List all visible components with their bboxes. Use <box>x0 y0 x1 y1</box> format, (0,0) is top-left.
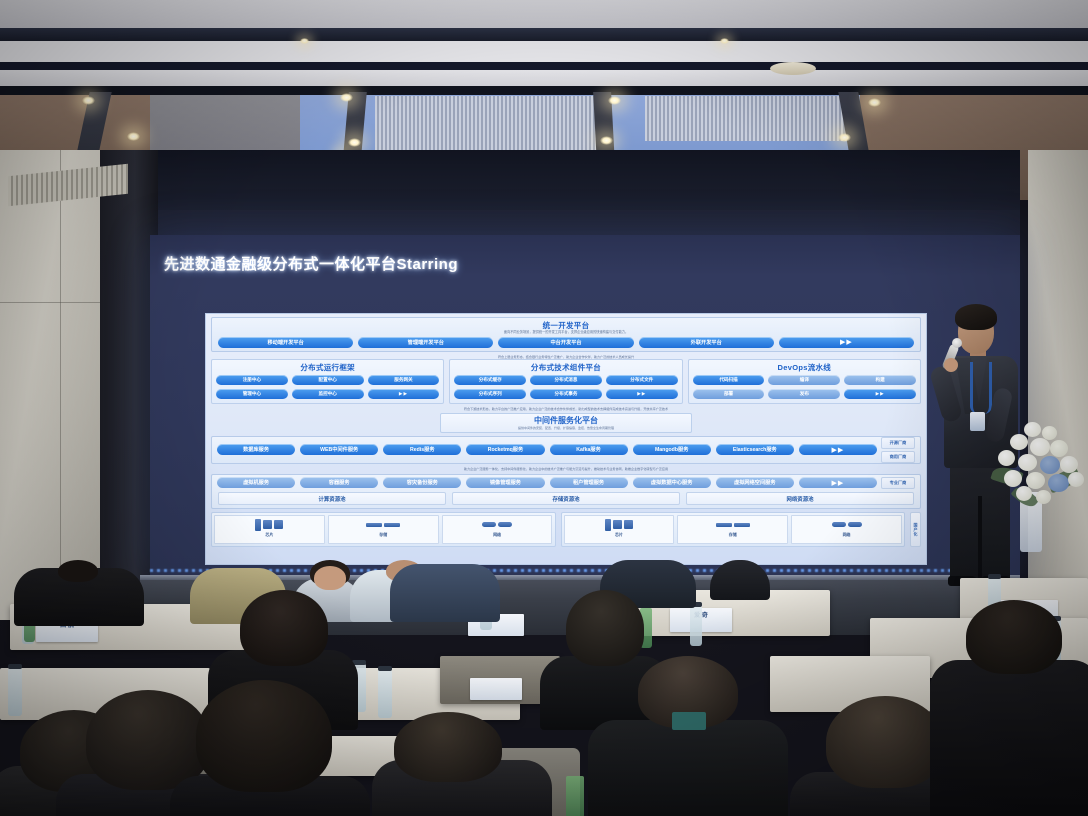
audience-member <box>170 680 370 816</box>
column-title: DevOps流水线 <box>689 360 920 373</box>
chip-distributed-message[interactable]: 分布式消息 <box>530 375 602 385</box>
audience-member <box>372 712 552 816</box>
ceiling-spotlight <box>608 96 621 105</box>
flower-blue <box>1048 474 1069 492</box>
slide-content: 统一开发平台 面向不同业务场景，提供统一的开发工具平台，支撑企业级应用的快速构建… <box>205 313 927 565</box>
chip-distributed-file[interactable]: 分布式文件 <box>606 375 678 385</box>
chip-monitor-center[interactable]: 监控中心 <box>292 389 364 399</box>
speaker-badge <box>970 412 985 431</box>
middleware-title-box: 中间件服务化平台 提供中间件的安装、配置、升级、扩容缩容、监控、告警全生命周期管… <box>440 413 692 433</box>
ceiling-spotlight <box>868 98 881 107</box>
ceiling-slab-top <box>0 0 1088 30</box>
side-tag-localization[interactable]: 国产化 <box>910 512 921 547</box>
flower-white <box>1010 434 1028 450</box>
chip-elasticsearch-service[interactable]: Elasticsearch服务 <box>716 444 794 455</box>
audience-area: 国 航 爱 奇 <box>0 560 1088 816</box>
chip-midplatform-dev[interactable]: 中台开发平台 <box>498 337 633 348</box>
audience-lanyard <box>672 712 706 730</box>
hardware-cell-storage[interactable]: 存储 <box>677 515 788 544</box>
hardware-cell-chip[interactable]: 芯片 <box>564 515 675 544</box>
water-bottle <box>378 670 392 718</box>
chip-distributed-cache[interactable]: 分布式缓存 <box>454 375 526 385</box>
side-tag-label: 国产化 <box>913 523 919 537</box>
chip-distributed-transaction[interactable]: 分布式事务 <box>530 389 602 399</box>
chip-web-middleware-service[interactable]: WEB中间件服务 <box>300 444 378 455</box>
audience-head <box>58 560 98 582</box>
ceiling-spotlight <box>838 133 851 142</box>
chip-deploy[interactable]: 部署 <box>693 389 765 399</box>
layer-footnote-2: 符合下游技术形态，助力平台的广泛推广应用，助力企业广泛的技术合作伙伴成长，助力成… <box>206 407 926 412</box>
flower-white <box>1050 440 1068 457</box>
hardware-group-2: 芯片 存储 网络 <box>561 512 906 547</box>
hardware-label: 芯片 <box>615 532 623 538</box>
hardware-cell-storage[interactable]: 存储 <box>328 515 439 544</box>
column-devops-pipeline: DevOps流水线 代码扫描 编译 构建 部署 发布 ▶▶ <box>688 359 921 404</box>
audience-hair <box>566 590 644 666</box>
conference-hall-photo: 先进数通金融级分布式一体化平台Starring 统一开发平台 面向不同业务场景，… <box>0 0 1088 816</box>
side-tag-opensource-vendor[interactable]: 开源厂商 <box>881 437 915 449</box>
audience-head <box>314 566 346 590</box>
middleware-side-tags: 开源厂商 商用厂商 <box>881 437 915 463</box>
hardware-group-1: 芯片 存储 网络 <box>211 512 556 547</box>
network-icon <box>832 517 862 532</box>
chip-more[interactable]: ▶▶ <box>799 477 877 488</box>
layer-virtualization: 虚拟机服务 容器服务 容灾备份服务 镜像管理服务 租户管理服务 虚拟数据中心服务… <box>211 474 921 509</box>
layer-three-columns: 分布式运行框架 注册中心 配置中心 服务网关 管理中心 监控中心 ▶▶ 分布式技… <box>206 359 926 407</box>
floral-arrangement <box>990 420 1088 550</box>
ceiling-smoke-detector <box>770 62 816 75</box>
chip-row: 部署 发布 ▶▶ <box>689 387 920 401</box>
ceiling-air-vent-2 <box>645 96 860 141</box>
middleware-title: 中间件服务化平台 <box>441 415 691 426</box>
audience-member <box>710 560 770 600</box>
audience-member <box>14 560 144 626</box>
water-bottle <box>8 668 22 716</box>
bottle-cap <box>8 664 22 669</box>
chip-rocketmq-service[interactable]: Rocketmq服务 <box>466 444 544 455</box>
side-tag-professional-vendor[interactable]: 专业厂商 <box>881 477 915 489</box>
chip-kafka-service[interactable]: Kafka服务 <box>550 444 628 455</box>
chip-row: 代码扫描 编译 构建 <box>689 373 920 387</box>
audience-body <box>588 720 788 816</box>
ceiling-spotlight <box>127 132 140 141</box>
microphone-head-icon <box>952 338 962 348</box>
audience-hair <box>394 712 502 782</box>
layer-footnote-3: 助力企业广泛服务一体化，支持中间件服务化，助力企业中的技术广泛推广与能力沉淀与提… <box>206 467 926 472</box>
column-runtime-framework: 分布式运行框架 注册中心 配置中心 服务网关 管理中心 监控中心 ▶▶ <box>211 359 444 404</box>
speaker-lanyard <box>970 362 992 414</box>
audience-body <box>710 560 770 600</box>
hardware-cell-network[interactable]: 网络 <box>442 515 553 544</box>
layer-middleware: 数据库服务 WEB中间件服务 Redis服务 Rocketmq服务 Kafka服… <box>211 436 921 464</box>
hardware-cell-chip[interactable]: 芯片 <box>214 515 325 544</box>
speaker-hair <box>955 304 997 330</box>
chip-code-scan[interactable]: 代码扫描 <box>693 375 765 385</box>
hardware-label: 网络 <box>493 532 501 538</box>
column-title: 分布式技术组件平台 <box>450 360 681 373</box>
ceiling-spotlight <box>600 136 613 145</box>
chip-service-gateway[interactable]: 服务网关 <box>368 375 440 385</box>
chip-mobile-dev[interactable]: 移动端开发平台 <box>218 337 353 348</box>
ceiling-spotlight <box>340 93 353 102</box>
ceiling-spotlight <box>720 38 729 44</box>
bottle-cap <box>988 574 1001 579</box>
wall-seam <box>60 150 61 620</box>
audience-hair <box>826 696 944 788</box>
hardware-label: 存储 <box>379 532 387 538</box>
projection-screen: 先进数通金融级分布式一体化平台Starring 统一开发平台 面向不同业务场景，… <box>150 235 1020 580</box>
flower-white <box>998 450 1015 466</box>
flower-blue <box>1040 456 1060 474</box>
column-tech-components: 分布式技术组件平台 分布式缓存 分布式消息 分布式文件 分布式序列 分布式事务 … <box>449 359 682 404</box>
chip-config-center[interactable]: 配置中心 <box>292 375 364 385</box>
chip-distributed-sequence[interactable]: 分布式序列 <box>454 389 526 399</box>
chip-management-center[interactable]: 管理中心 <box>216 389 288 399</box>
chip-row: 数据库服务 WEB中间件服务 Redis服务 Rocketmq服务 Kafka服… <box>217 442 877 457</box>
flower-white <box>1018 454 1037 471</box>
flower-white <box>1004 470 1022 487</box>
chip-vm-service[interactable]: 虚拟机服务 <box>217 477 295 488</box>
chip-more[interactable]: ▶▶ <box>779 337 914 348</box>
ceiling-recess-strip <box>0 28 1088 42</box>
virtualization-side-tags: 专业厂商 <box>881 477 915 489</box>
middleware-subtitle: 提供中间件的安装、配置、升级、扩容缩容、监控、告警全生命周期管理 <box>441 426 691 430</box>
back-wall-upper-band <box>140 150 1020 210</box>
chip-row: 管理中心 监控中心 ▶▶ <box>212 387 443 401</box>
chip-redis-service[interactable]: Redis服务 <box>383 444 461 455</box>
ceiling-spotlight <box>300 38 309 44</box>
pool-network[interactable]: 网络资源池 <box>686 492 914 505</box>
flower-white <box>1024 422 1041 437</box>
name-card <box>470 678 522 700</box>
chip-virtual-datacenter-service[interactable]: 虚拟数据中心服务 <box>633 477 711 488</box>
audience-hair <box>196 680 332 792</box>
ceiling-slab-mid <box>0 41 1088 63</box>
chip-more[interactable]: ▶▶ <box>799 444 877 455</box>
audience-body <box>390 564 500 622</box>
chip-release[interactable]: 发布 <box>768 389 840 399</box>
column-title: 分布式运行框架 <box>212 360 443 373</box>
middleware-row: 数据库服务 WEB中间件服务 Redis服务 Rocketmq服务 Kafka服… <box>212 437 920 463</box>
slide-title: 先进数通金融级分布式一体化平台Starring <box>164 253 458 274</box>
chip-icon <box>255 517 283 532</box>
chip-row: 分布式缓存 分布式消息 分布式文件 <box>450 373 681 387</box>
chip-build[interactable]: 构建 <box>844 375 916 385</box>
pool-storage[interactable]: 存储资源池 <box>452 492 680 505</box>
storage-icon <box>716 517 750 532</box>
chip-registry-center[interactable]: 注册中心 <box>216 375 288 385</box>
chip-more[interactable]: ▶▶ <box>844 389 916 399</box>
ceiling-spotlight <box>82 96 95 105</box>
chip-more[interactable]: ▶▶ <box>606 389 678 399</box>
audience-member <box>930 600 1088 816</box>
chip-database-service[interactable]: 数据库服务 <box>217 444 295 455</box>
flower-white <box>1036 490 1051 504</box>
pool-compute[interactable]: 计算资源池 <box>218 492 446 505</box>
water-bottle <box>690 606 702 646</box>
audience-hair <box>240 590 328 666</box>
flower-white <box>1016 486 1032 501</box>
audience-member <box>588 656 788 816</box>
water-bottle <box>566 776 584 816</box>
chip-tenant-management-service[interactable]: 租户管理服务 <box>550 477 628 488</box>
network-icon <box>482 517 512 532</box>
chip-mongodb-service[interactable]: Mangodb服务 <box>633 444 711 455</box>
resource-pool-row: 计算资源池 存储资源池 网络资源池 <box>212 490 920 508</box>
chip-container-service[interactable]: 容器服务 <box>300 477 378 488</box>
chip-backup-service[interactable]: 容灾备份服务 <box>383 477 461 488</box>
storage-icon <box>366 517 400 532</box>
chip-virtual-network-service[interactable]: 虚拟网络空间服务 <box>716 477 794 488</box>
speaker-hand <box>944 358 958 372</box>
chip-compile[interactable]: 编译 <box>768 375 840 385</box>
hardware-label: 网络 <box>843 532 851 538</box>
audience-member <box>390 560 500 622</box>
chip-admin-dev[interactable]: 管理端开发平台 <box>358 337 493 348</box>
flower-white <box>1068 472 1084 487</box>
virtualization-row: 虚拟机服务 容器服务 容灾备份服务 镜像管理服务 租户管理服务 虚拟数据中心服务… <box>212 475 920 490</box>
chip-icon <box>605 517 633 532</box>
chip-external-dev[interactable]: 外联开发平台 <box>639 337 774 348</box>
hardware-label: 存储 <box>729 532 737 538</box>
audience-hair <box>966 600 1062 674</box>
ceiling-spotlight <box>348 138 361 147</box>
chip-image-management-service[interactable]: 镜像管理服务 <box>466 477 544 488</box>
bottle-cap <box>378 666 392 671</box>
side-tag-commercial-vendor[interactable]: 商用厂商 <box>881 451 915 463</box>
chip-row: 注册中心 配置中心 服务网关 <box>212 373 443 387</box>
chip-row: 移动端开发平台 管理端开发平台 中台开发平台 外联开发平台 ▶▶ <box>212 335 920 351</box>
layer-hardware: 芯片 存储 网络 <box>206 512 926 551</box>
chip-more[interactable]: ▶▶ <box>368 389 440 399</box>
flower-white <box>1060 456 1078 473</box>
hardware-cell-network[interactable]: 网络 <box>791 515 902 544</box>
chip-row: 虚拟机服务 容器服务 容灾备份服务 镜像管理服务 租户管理服务 虚拟数据中心服务… <box>217 475 877 490</box>
layer-unified-dev-platform: 统一开发平台 面向不同业务场景，提供统一的开发工具平台，支撑企业级应用的快速构建… <box>211 317 921 352</box>
hardware-label: 芯片 <box>265 532 273 538</box>
audience-body <box>930 660 1088 816</box>
flower-white <box>1030 438 1050 456</box>
flower-white <box>1026 472 1045 489</box>
chip-row: 分布式序列 分布式事务 ▶▶ <box>450 387 681 401</box>
